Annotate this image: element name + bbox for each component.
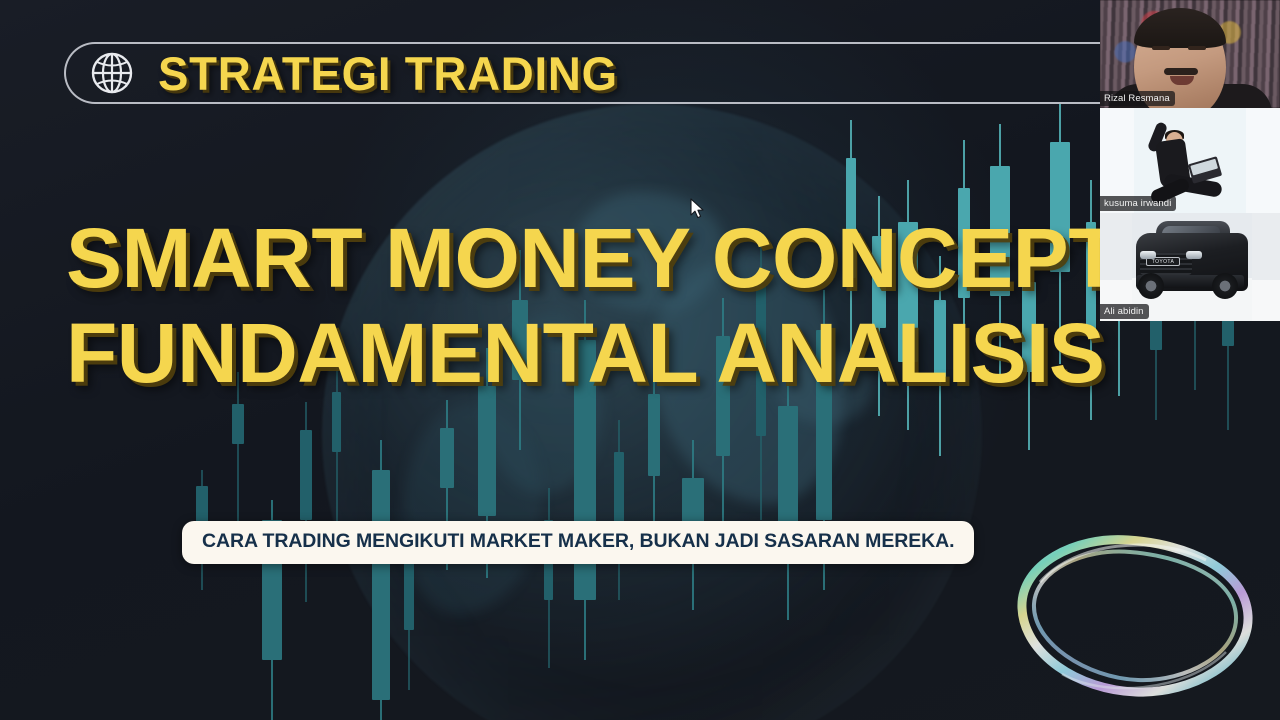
- person-moustache: [1164, 68, 1198, 75]
- shared-photo: TOYOTA: [1132, 213, 1252, 321]
- video-tile-rizal-resmana[interactable]: Rizal Resmana: [1100, 0, 1280, 108]
- suv-headlight: [1140, 251, 1156, 259]
- person-eye: [1188, 46, 1206, 50]
- participant-name-label: Ali abidin: [1100, 304, 1149, 319]
- headline-line-1: SMART MONEY CONCEPT: [66, 218, 1280, 299]
- slide-caption-text: CARA TRADING MENGIKUTI MARKET MAKER, BUK…: [202, 530, 954, 553]
- headline-line-2: FUNDAMENTAL ANALISIS: [66, 313, 1280, 394]
- presentation-slide: STRATEGI TRADING SMART MONEY CONCEPT FUN…: [0, 0, 1280, 720]
- suv-headlight: [1186, 251, 1202, 259]
- video-participant-strip: Rizal Resmana kusuma irwandi: [1100, 0, 1280, 321]
- globe-icon: [88, 49, 136, 97]
- participant-name-label: Rizal Resmana: [1100, 91, 1175, 106]
- laptop-icon: [1188, 156, 1222, 183]
- suv-wheel: [1212, 273, 1238, 299]
- person-eye: [1152, 46, 1170, 50]
- slide-header-bar: STRATEGI TRADING: [64, 42, 1280, 104]
- soap-bubble-graphic: [1000, 512, 1268, 712]
- screen: STRATEGI TRADING SMART MONEY CONCEPT FUN…: [0, 0, 1280, 720]
- mouse-cursor: [690, 198, 706, 220]
- video-tile-ali-abidin[interactable]: TOYOTA Ali abidin: [1100, 213, 1280, 321]
- suv-wheel: [1138, 273, 1164, 299]
- slide-header-title: STRATEGI TRADING: [158, 46, 618, 101]
- video-tile-kusuma-irwandi[interactable]: kusuma irwandi: [1100, 108, 1280, 213]
- slide-caption-bar: CARA TRADING MENGIKUTI MARKET MAKER, BUK…: [182, 521, 974, 564]
- participant-name-label: kusuma irwandi: [1100, 196, 1176, 211]
- slide-headline: SMART MONEY CONCEPT FUNDAMENTAL ANALISIS: [66, 218, 1280, 393]
